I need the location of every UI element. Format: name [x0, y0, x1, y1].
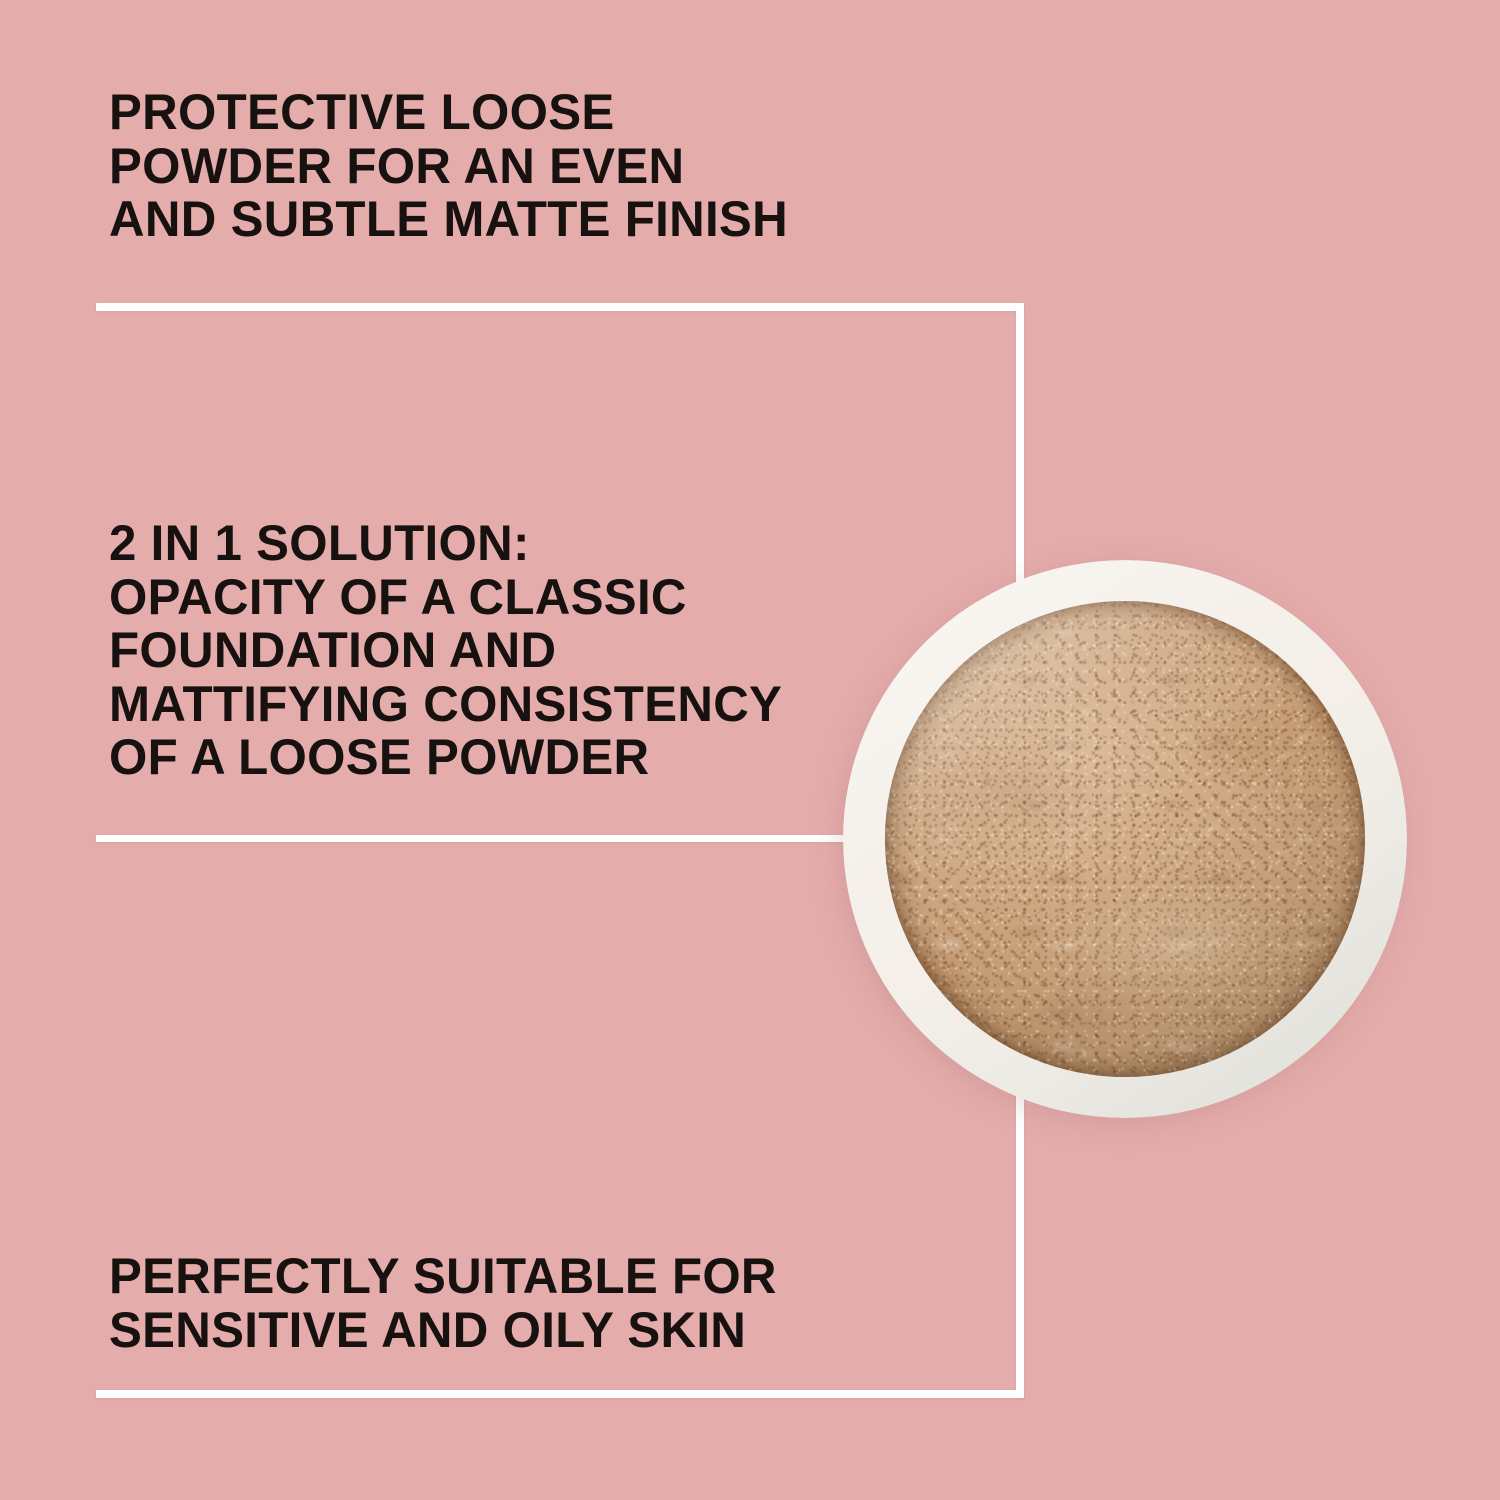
rule-bottom-horizontal: [96, 1390, 1024, 1398]
rule-middle-horizontal: [96, 835, 861, 842]
powder-texture-coarse: [885, 601, 1366, 1076]
powder-texture-fine: [885, 601, 1366, 1076]
feature-text-protective-loose-powder: PROTECTIVE LOOSE POWDER FOR AN EVEN AND …: [109, 86, 788, 247]
rule-vertical-upper: [1016, 303, 1024, 600]
feature-text-two-in-one-solution: 2 IN 1 SOLUTION: OPACITY OF A CLASSIC FO…: [109, 517, 782, 785]
powder-surface-shading: [885, 601, 1366, 1076]
rule-top-horizontal: [96, 303, 1024, 311]
rule-vertical-lower: [1016, 1088, 1024, 1398]
powder-inner-edge-shadow: [885, 601, 1366, 1076]
jar-powder-well: [885, 601, 1366, 1076]
product-feature-graphic: PROTECTIVE LOOSE POWDER FOR AN EVEN AND …: [0, 0, 1500, 1500]
loose-powder-jar: [843, 560, 1407, 1118]
powder-texture-clumps: [885, 601, 1366, 1076]
feature-text-suitable-sensitive-oily-skin: PERFECTLY SUITABLE FOR SENSITIVE AND OIL…: [109, 1250, 777, 1357]
